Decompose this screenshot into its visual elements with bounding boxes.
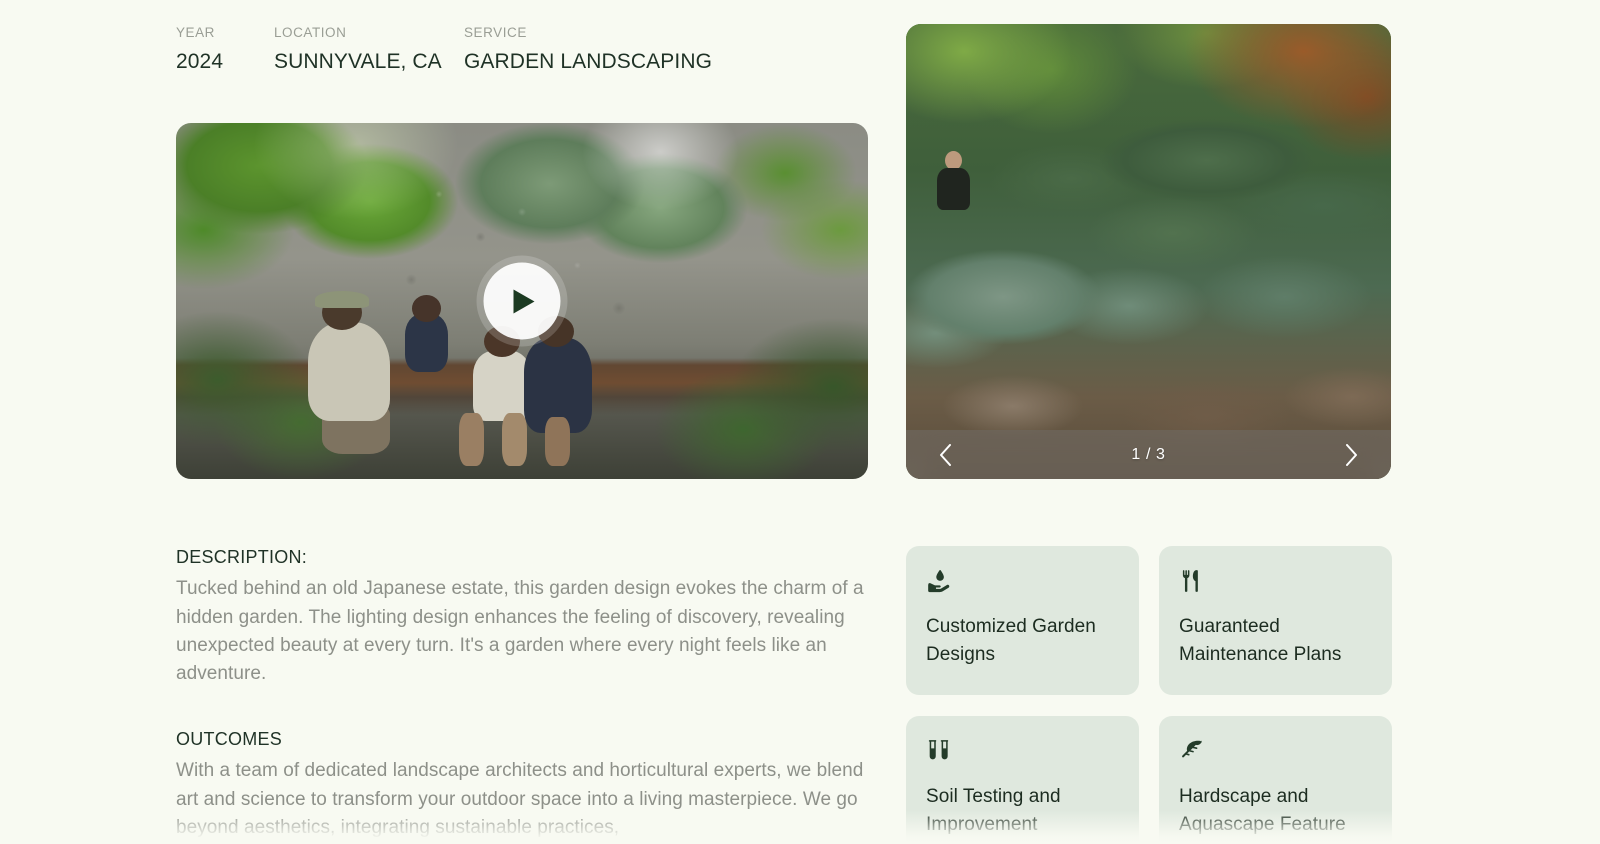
feature-card-customized-garden-designs[interactable]: Customized Garden Designs bbox=[906, 546, 1139, 695]
chevron-right-icon[interactable] bbox=[1337, 440, 1367, 470]
feature-card-label: Guaranteed Maintenance Plans bbox=[1179, 613, 1372, 669]
section-spacer bbox=[176, 688, 876, 727]
chevron-left-icon[interactable] bbox=[930, 440, 960, 470]
carousel-counter: 1 / 3 bbox=[1131, 446, 1165, 464]
feature-card-label: Soil Testing and Improvement bbox=[926, 783, 1119, 839]
project-meta-row: YEAR 2024 LOCATION SUNNYVALE, CA SERVICE… bbox=[176, 26, 712, 73]
feather-icon bbox=[1179, 738, 1205, 764]
image-carousel[interactable]: 1 / 3 bbox=[906, 24, 1391, 479]
fork-knife-icon bbox=[1179, 568, 1205, 594]
hand-water-drop-icon bbox=[926, 568, 952, 594]
meta-year-label: YEAR bbox=[176, 26, 274, 40]
description-body: Tucked behind an old Japanese estate, th… bbox=[176, 575, 876, 688]
test-tubes-icon bbox=[926, 738, 952, 764]
project-case-study-page: YEAR 2024 LOCATION SUNNYVALE, CA SERVICE… bbox=[0, 0, 1600, 844]
meta-year-value: 2024 bbox=[176, 51, 274, 73]
play-icon[interactable] bbox=[484, 263, 561, 340]
feature-card-label: Hardscape and Aquascape Feature bbox=[1179, 783, 1372, 839]
feature-card-soil-testing-and-improvement[interactable]: Soil Testing and Improvement bbox=[906, 716, 1139, 844]
meta-service: SERVICE GARDEN LANDSCAPING bbox=[464, 26, 712, 73]
meta-location: LOCATION SUNNYVALE, CA bbox=[274, 26, 464, 73]
outcomes-body: With a team of dedicated landscape archi… bbox=[176, 757, 876, 842]
feature-card-grid: Customized Garden Designs Guaranteed Mai… bbox=[906, 546, 1392, 844]
project-text-column: DESCRIPTION: Tucked behind an old Japane… bbox=[176, 545, 876, 842]
feature-card-guaranteed-maintenance-plans[interactable]: Guaranteed Maintenance Plans bbox=[1159, 546, 1392, 695]
meta-location-label: LOCATION bbox=[274, 26, 464, 40]
carousel-image-person bbox=[935, 151, 975, 211]
meta-service-value: GARDEN LANDSCAPING bbox=[464, 51, 712, 73]
carousel-image bbox=[906, 24, 1391, 479]
video-player-card[interactable] bbox=[176, 123, 868, 479]
meta-year: YEAR 2024 bbox=[176, 26, 274, 73]
description-heading: DESCRIPTION: bbox=[176, 545, 876, 569]
meta-location-value: SUNNYVALE, CA bbox=[274, 51, 464, 73]
feature-card-hardscape-and-aquascape-feature[interactable]: Hardscape and Aquascape Feature bbox=[1159, 716, 1392, 844]
meta-service-label: SERVICE bbox=[464, 26, 712, 40]
feature-card-label: Customized Garden Designs bbox=[926, 613, 1119, 669]
video-thumbnail-subjects bbox=[301, 248, 661, 454]
outcomes-heading: OUTCOMES bbox=[176, 727, 876, 751]
carousel-controls-bar: 1 / 3 bbox=[906, 430, 1391, 479]
